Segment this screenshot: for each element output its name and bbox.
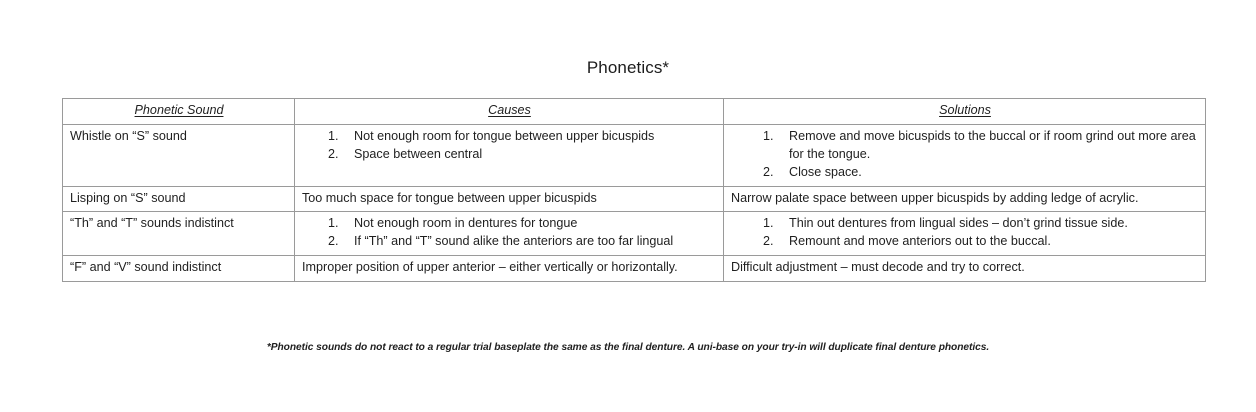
cell-causes: 1. Not enough room for tongue between up…	[295, 124, 724, 186]
table-header-row: Phonetic Sound Causes Solutions	[63, 99, 1206, 125]
column-header-phonetic-sound-label: Phonetic Sound	[135, 103, 224, 117]
list-marker: 1.	[731, 128, 789, 146]
phonetics-table: Phonetic Sound Causes Solutions Whistle …	[62, 98, 1206, 282]
list-marker: 1.	[302, 128, 354, 146]
list-marker: 2.	[302, 233, 354, 251]
column-header-causes: Causes	[295, 99, 724, 125]
list-item: 1. Thin out dentures from lingual sides …	[731, 215, 1199, 233]
solutions-text: Difficult adjustment – must decode and t…	[731, 259, 1199, 277]
column-header-causes-label: Causes	[488, 103, 531, 117]
cell-solutions: 1. Thin out dentures from lingual sides …	[724, 212, 1206, 256]
causes-list: 1. Not enough room for tongue between up…	[302, 128, 717, 164]
list-item-text: Thin out dentures from lingual sides – d…	[789, 215, 1199, 233]
causes-text: Improper position of upper anterior – ei…	[302, 259, 717, 277]
page-title: Phonetics*	[0, 58, 1256, 78]
cell-causes: 1. Not enough room in dentures for tongu…	[295, 212, 724, 256]
list-item-text: Not enough room for tongue between upper…	[354, 128, 717, 146]
footnote: *Phonetic sounds do not react to a regul…	[0, 342, 1256, 353]
list-marker: 1.	[302, 215, 354, 233]
cell-phonetic-sound: “F” and “V” sound indistinct	[63, 256, 295, 282]
list-marker: 1.	[731, 215, 789, 233]
list-marker: 2.	[731, 233, 789, 251]
list-item-text: Remove and move bicuspids to the buccal …	[789, 128, 1199, 164]
causes-list: 1. Not enough room in dentures for tongu…	[302, 215, 717, 251]
cell-solutions: Difficult adjustment – must decode and t…	[724, 256, 1206, 282]
phonetic-sound-text: Whistle on “S” sound	[70, 128, 288, 146]
list-item-text: Not enough room in dentures for tongue	[354, 215, 717, 233]
column-header-phonetic-sound: Phonetic Sound	[63, 99, 295, 125]
list-item: 1. Not enough room for tongue between up…	[302, 128, 717, 146]
list-item-text: If “Th” and “T” sound alike the anterior…	[354, 233, 717, 251]
phonetic-sound-text: “F” and “V” sound indistinct	[70, 259, 288, 277]
solutions-list: 1. Remove and move bicuspids to the bucc…	[731, 128, 1199, 182]
list-item: 1. Not enough room in dentures for tongu…	[302, 215, 717, 233]
list-item: 2. Remount and move anteriors out to the…	[731, 233, 1199, 251]
phonetics-table-container: Phonetic Sound Causes Solutions Whistle …	[62, 98, 1205, 282]
list-marker: 2.	[302, 146, 354, 164]
table-row: Whistle on “S” sound 1. Not enough room …	[63, 124, 1206, 186]
cell-phonetic-sound: Lisping on “S” sound	[63, 186, 295, 212]
cell-phonetic-sound: “Th” and “T” sounds indistinct	[63, 212, 295, 256]
cell-causes: Too much space for tongue between upper …	[295, 186, 724, 212]
table-row: “F” and “V” sound indistinct Improper po…	[63, 256, 1206, 282]
list-item: 2. If “Th” and “T” sound alike the anter…	[302, 233, 717, 251]
list-item: 2. Close space.	[731, 164, 1199, 182]
list-item: 1. Remove and move bicuspids to the bucc…	[731, 128, 1199, 164]
cell-solutions: 1. Remove and move bicuspids to the bucc…	[724, 124, 1206, 186]
document-page: Phonetics* Phonetic Sound Causes Solutio…	[0, 0, 1256, 412]
table-header: Phonetic Sound Causes Solutions	[63, 99, 1206, 125]
list-item-text: Close space.	[789, 164, 1199, 182]
table-row: Lisping on “S” sound Too much space for …	[63, 186, 1206, 212]
phonetic-sound-text: “Th” and “T” sounds indistinct	[70, 215, 288, 233]
column-header-solutions-label: Solutions	[939, 103, 991, 117]
phonetic-sound-text: Lisping on “S” sound	[70, 190, 288, 208]
solutions-list: 1. Thin out dentures from lingual sides …	[731, 215, 1199, 251]
table-body: Whistle on “S” sound 1. Not enough room …	[63, 124, 1206, 281]
list-item: 2. Space between central	[302, 146, 717, 164]
list-item-text: Space between central	[354, 146, 717, 164]
list-marker: 2.	[731, 164, 789, 182]
cell-phonetic-sound: Whistle on “S” sound	[63, 124, 295, 186]
cell-solutions: Narrow palate space between upper bicusp…	[724, 186, 1206, 212]
table-row: “Th” and “T” sounds indistinct 1. Not en…	[63, 212, 1206, 256]
cell-causes: Improper position of upper anterior – ei…	[295, 256, 724, 282]
list-item-text: Remount and move anteriors out to the bu…	[789, 233, 1199, 251]
column-header-solutions: Solutions	[724, 99, 1206, 125]
causes-text: Too much space for tongue between upper …	[302, 190, 717, 208]
solutions-text: Narrow palate space between upper bicusp…	[731, 190, 1199, 208]
